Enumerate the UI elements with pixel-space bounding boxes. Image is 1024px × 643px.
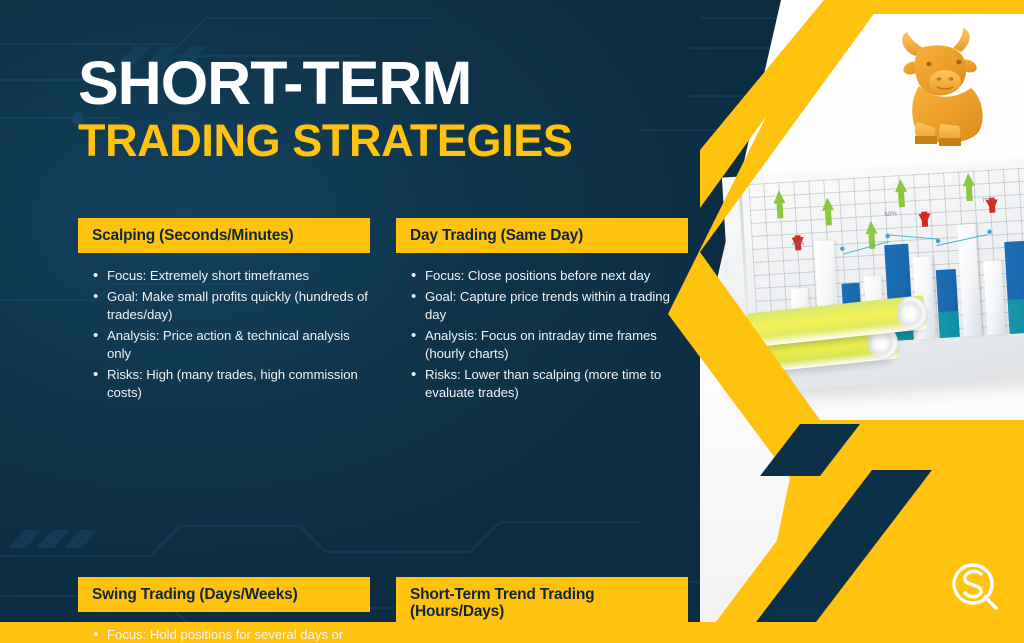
- infographic-poster: 40% 50% 75%: [0, 0, 1024, 643]
- page-title: SHORT-TERM TRADING STRATEGIES: [78, 54, 678, 164]
- list-item: Goal: Make small profits quickly (hundre…: [92, 288, 368, 323]
- list-item: Risks: Lower than scalping (more time to…: [410, 366, 686, 401]
- card-bullets-scalping: Focus: Extremely short timeframes Goal: …: [78, 267, 370, 401]
- card-bullets-day-trading: Focus: Close positions before next day G…: [396, 267, 688, 401]
- list-item: Goal: Capture price trends within a trad…: [410, 288, 686, 323]
- list-item: Risks: High (many trades, high commissio…: [92, 366, 368, 401]
- strategy-card-day-trading: Day Trading (Same Day) Focus: Close posi…: [396, 218, 688, 405]
- title-line-2: TRADING STRATEGIES: [78, 117, 678, 164]
- card-heading-day-trading: Day Trading (Same Day): [396, 218, 688, 253]
- strategy-card-short-term-trend-trading: Short-Term Trend Trading (Hours/Days) Fo…: [396, 577, 688, 643]
- title-line-1: SHORT-TERM: [78, 54, 678, 113]
- golden-bull-figurine: [885, 24, 995, 149]
- card-heading-short-term-trend-trading: Short-Term Trend Trading (Hours/Days): [396, 577, 688, 629]
- list-item: Analysis: Focus on intraday time frames …: [410, 327, 686, 362]
- trading-photo-panel: 40% 50% 75%: [700, 0, 1024, 643]
- card-heading-scalping: Scalping (Seconds/Minutes): [78, 218, 370, 253]
- strategy-card-scalping: Scalping (Seconds/Minutes) Focus: Extrem…: [78, 218, 370, 405]
- list-item: Analysis: Price action & technical analy…: [92, 327, 368, 362]
- strategy-card-swing-trading: Swing Trading (Days/Weeks) Focus: Hold p…: [78, 577, 370, 643]
- sq-monogram-logo: [948, 559, 1002, 613]
- list-item: Focus: Close positions before next day: [410, 267, 686, 284]
- strategy-card-grid: Scalping (Seconds/Minutes) Focus: Extrem…: [78, 218, 688, 643]
- list-item: Focus: Extremely short timeframes: [92, 267, 368, 284]
- card-heading-swing-trading: Swing Trading (Days/Weeks): [78, 577, 370, 612]
- list-item: Focus: Hold positions for several days o…: [92, 626, 368, 643]
- card-bullets-swing-trading: Focus: Hold positions for several days o…: [78, 626, 370, 643]
